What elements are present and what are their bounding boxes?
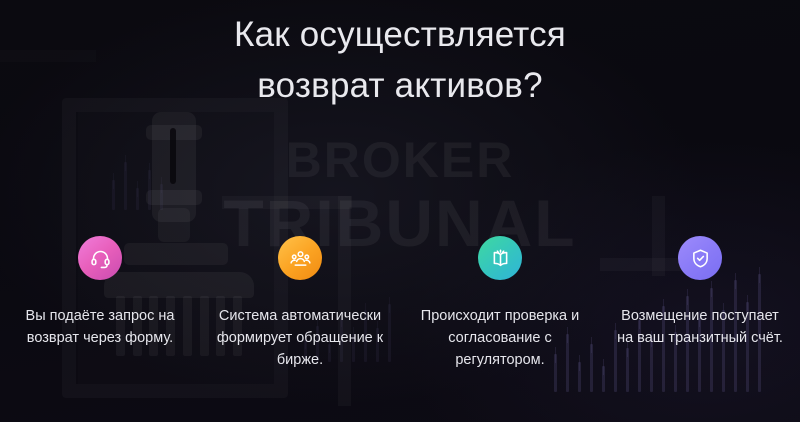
gavel-head <box>152 112 196 222</box>
process-step-1: Вы подаёте запрос на возврат через форму… <box>0 236 200 350</box>
gavel-head-slit <box>170 128 176 184</box>
headset-icon <box>78 236 122 280</box>
process-step-2: Система автоматически формирует обращени… <box>200 236 400 371</box>
candlestick-chart-left <box>108 150 178 210</box>
users-group-icon <box>278 236 322 280</box>
shield-check-icon <box>678 236 722 280</box>
watermark-line-1: BROKER <box>0 135 800 185</box>
process-step-3-text: Происходит проверка и согласование с рег… <box>412 306 588 371</box>
process-step-4-text: Возмещение поступает на ваш транзитный с… <box>612 306 788 350</box>
open-book-icon <box>478 236 522 280</box>
process-step-4: Возмещение поступает на ваш транзитный с… <box>600 236 800 350</box>
frame-bar-right <box>222 196 352 209</box>
process-step-2-text: Система автоматически формирует обращени… <box>212 306 388 371</box>
process-step-1-text: Вы подаёте запрос на возврат через форму… <box>12 306 188 350</box>
hero-section: BROKER TRIBUNAL <box>0 0 800 422</box>
process-step-3: Происходит проверка и согласование с рег… <box>400 236 600 371</box>
process-steps-row: Вы подаёте запрос на возврат через форму… <box>0 236 800 371</box>
page-title: Как осуществляется возврат активов? <box>0 10 800 112</box>
page-title-line-1: Как осуществляется <box>90 10 710 61</box>
page-title-line-2: возврат активов? <box>90 61 710 112</box>
